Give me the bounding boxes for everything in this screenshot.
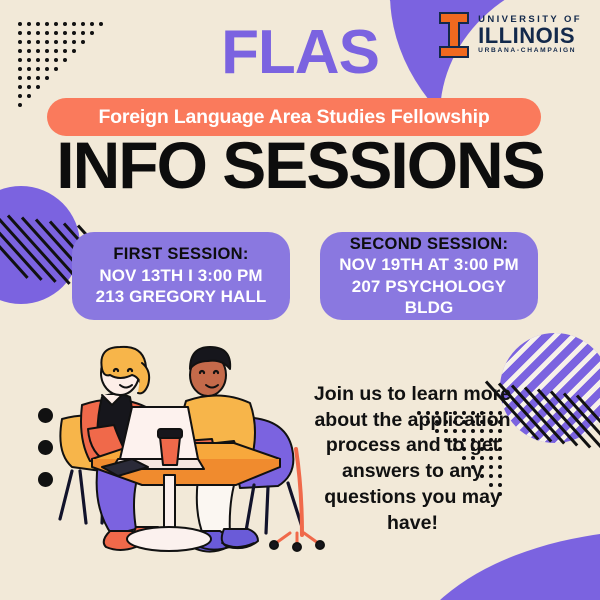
call-to-action-text: Join us to learn more about the applicat… [305, 382, 520, 536]
flas-acronym-title: FLAS [0, 22, 600, 84]
session-location: 207 PSYCHOLOGY BLDG [330, 276, 528, 319]
session-title: SECOND SESSION: [350, 234, 509, 255]
three-dots-decoration [38, 408, 53, 504]
session-card-first: FIRST SESSION: NOV 13TH I 3:00 PM 213 GR… [72, 232, 290, 320]
grid-dot [18, 85, 22, 89]
two-people-at-table-illustration [58, 345, 328, 570]
grid-dot [27, 94, 31, 98]
session-title: FIRST SESSION: [113, 244, 248, 265]
session-datetime: NOV 19TH AT 3:00 PM [339, 254, 519, 275]
grid-dot [36, 85, 40, 89]
session-location: 213 GREGORY HALL [96, 286, 267, 307]
session-card-second: SECOND SESSION: NOV 19TH AT 3:00 PM 207 … [320, 232, 538, 320]
grid-dot [18, 103, 22, 107]
flas-info-sessions-poster: UNIVERSITY OF ILLINOIS URBANA-CHAMPAIGN … [0, 0, 600, 600]
session-datetime: NOV 13TH I 3:00 PM [99, 265, 262, 286]
grid-dot [18, 94, 22, 98]
page-title: INFO SESSIONS [0, 131, 600, 200]
striped-circle-left [0, 186, 80, 304]
purple-shape-bottom-right [400, 530, 600, 600]
grid-dot [27, 85, 31, 89]
